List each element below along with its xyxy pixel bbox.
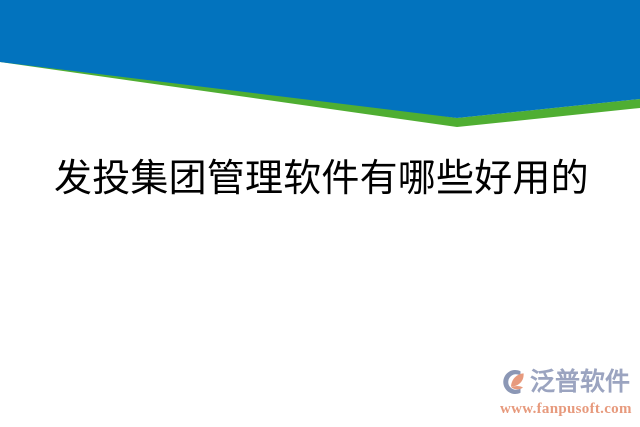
- logo-brand-name: 泛普软件: [530, 367, 630, 397]
- header-chevron-banner: [0, 0, 640, 140]
- slide-canvas: 发投集团管理软件有哪些好用的 泛普软件 www.fanpusoft.com: [0, 0, 640, 427]
- fanpu-watermark-logo: 泛普软件 www.fanpusoft.com: [498, 365, 634, 421]
- logo-brand-row: 泛普软件: [498, 365, 634, 399]
- page-title: 发投集团管理软件有哪些好用的: [54, 152, 586, 206]
- banner-blue-body: [0, 0, 640, 118]
- title-block: 发投集团管理软件有哪些好用的: [0, 152, 640, 206]
- logo-website-url: www.fanpusoft.com: [498, 400, 634, 418]
- banner-green-stripe: [0, 52, 640, 127]
- fanpu-circle-swoosh-icon: [498, 367, 528, 397]
